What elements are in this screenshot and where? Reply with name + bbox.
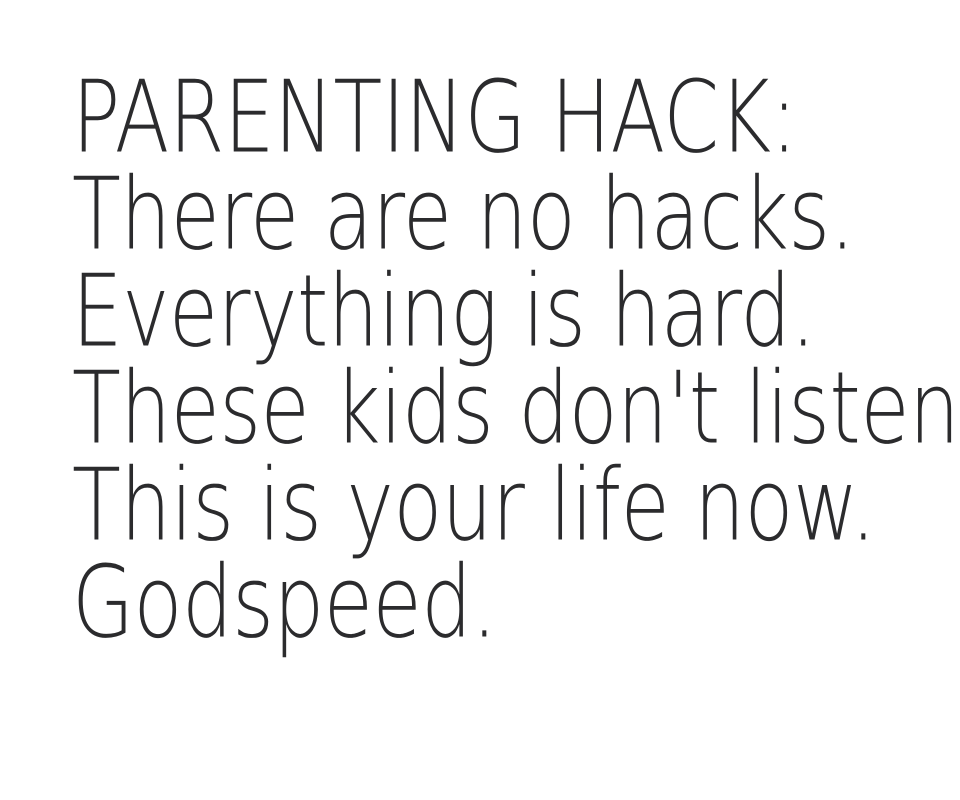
quote-text-block: PARENTING HACK: There are no hacks. Ever… <box>72 62 932 644</box>
quote-line-6: Godspeed. <box>72 547 872 660</box>
quote-image: PARENTING HACK: There are no hacks. Ever… <box>0 0 960 800</box>
